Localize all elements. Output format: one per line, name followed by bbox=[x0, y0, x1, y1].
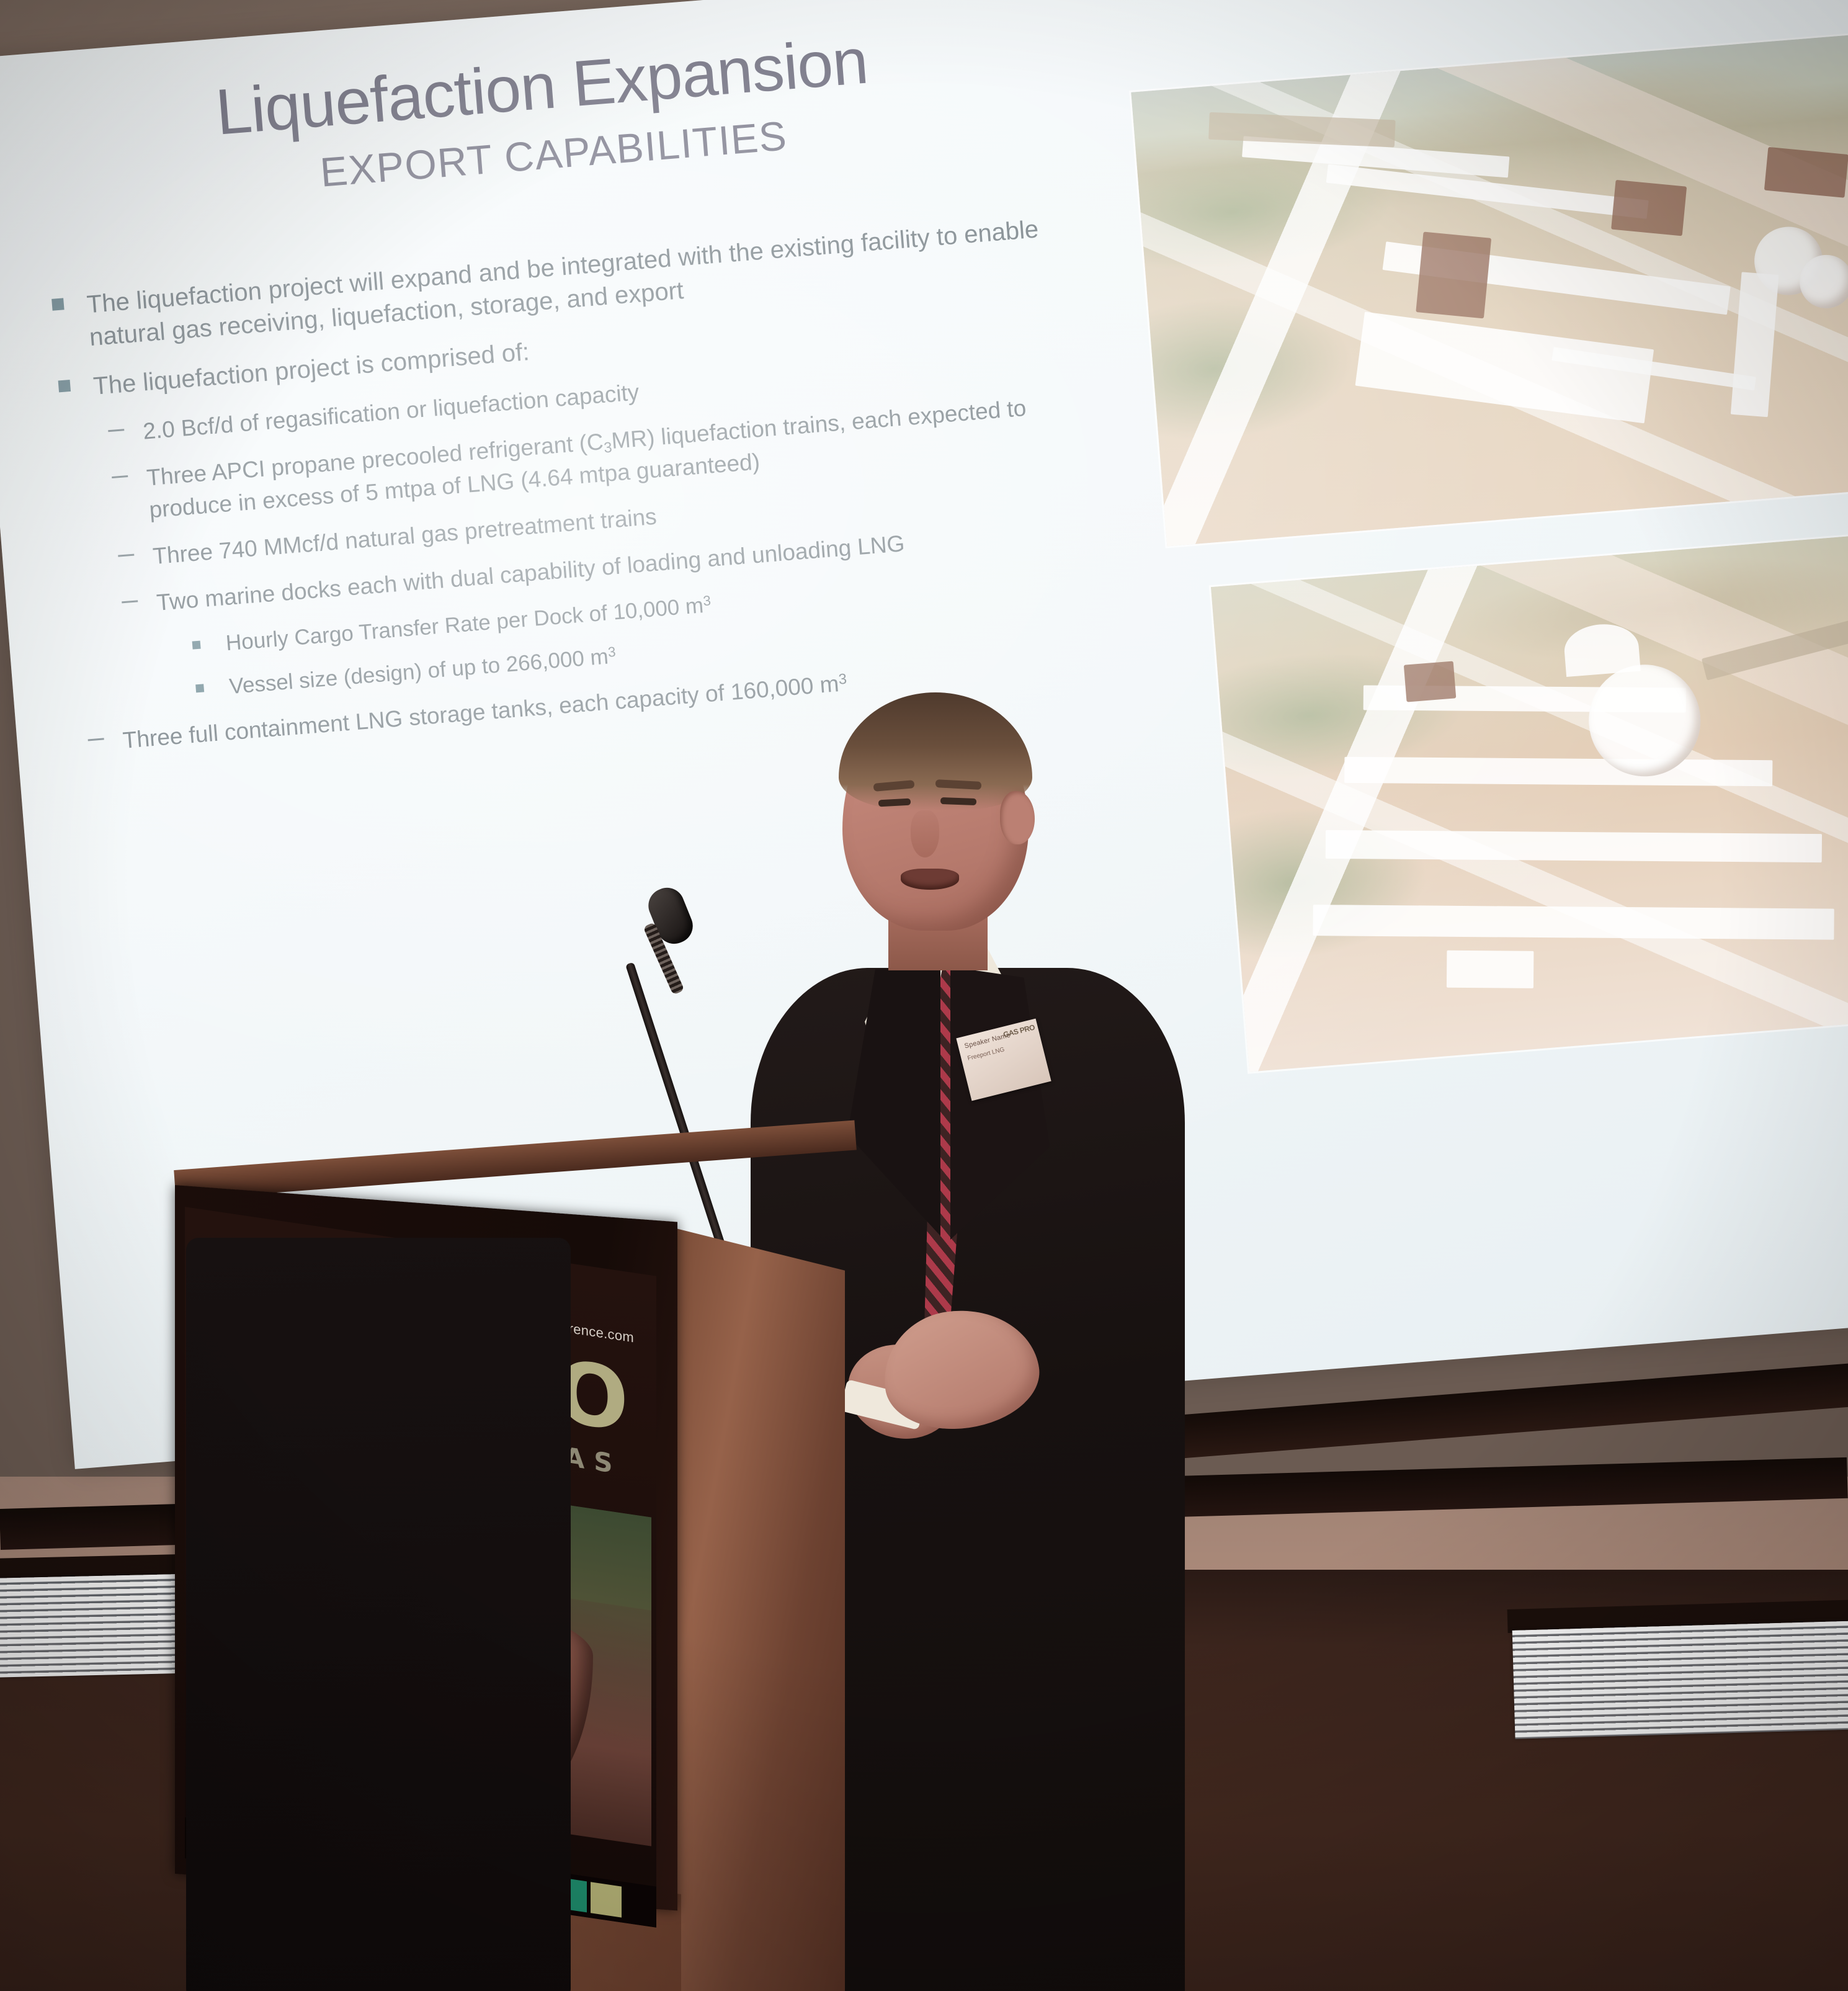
bullet-superscript: 3 bbox=[702, 593, 711, 609]
dash-bullet-icon bbox=[122, 601, 138, 604]
mouth bbox=[901, 869, 959, 890]
window-blinds-right bbox=[1512, 1621, 1848, 1739]
dash-bullet-icon bbox=[112, 475, 128, 478]
color-swatch bbox=[591, 1882, 622, 1917]
lectern-side-panel bbox=[671, 1227, 845, 1991]
plant-detail-overlay bbox=[1131, 32, 1848, 547]
window-blinds-left bbox=[0, 1573, 200, 1677]
small-square-bullet-icon bbox=[192, 640, 201, 649]
ear bbox=[1000, 791, 1035, 844]
eye-right bbox=[940, 797, 976, 805]
plant-detail-overlay bbox=[1211, 529, 1848, 1072]
hair bbox=[839, 692, 1032, 810]
speaker-trousers bbox=[186, 1238, 571, 1991]
square-bullet-icon bbox=[58, 380, 71, 392]
square-bullet-icon bbox=[51, 298, 64, 310]
dash-bullet-icon bbox=[88, 738, 104, 741]
bullet-superscript: 3 bbox=[838, 671, 847, 687]
bullet-superscript: 3 bbox=[607, 644, 616, 660]
slide-photo-lower bbox=[1209, 527, 1848, 1074]
dash-bullet-icon bbox=[108, 429, 124, 432]
nose bbox=[911, 810, 939, 857]
slide-photo-upper bbox=[1129, 30, 1848, 548]
small-square-bullet-icon bbox=[195, 684, 204, 692]
presentation-photo-scene: Liquefaction Expansion EXPORT CAPABILITI… bbox=[0, 0, 1848, 1991]
dash-bullet-icon bbox=[118, 554, 134, 557]
